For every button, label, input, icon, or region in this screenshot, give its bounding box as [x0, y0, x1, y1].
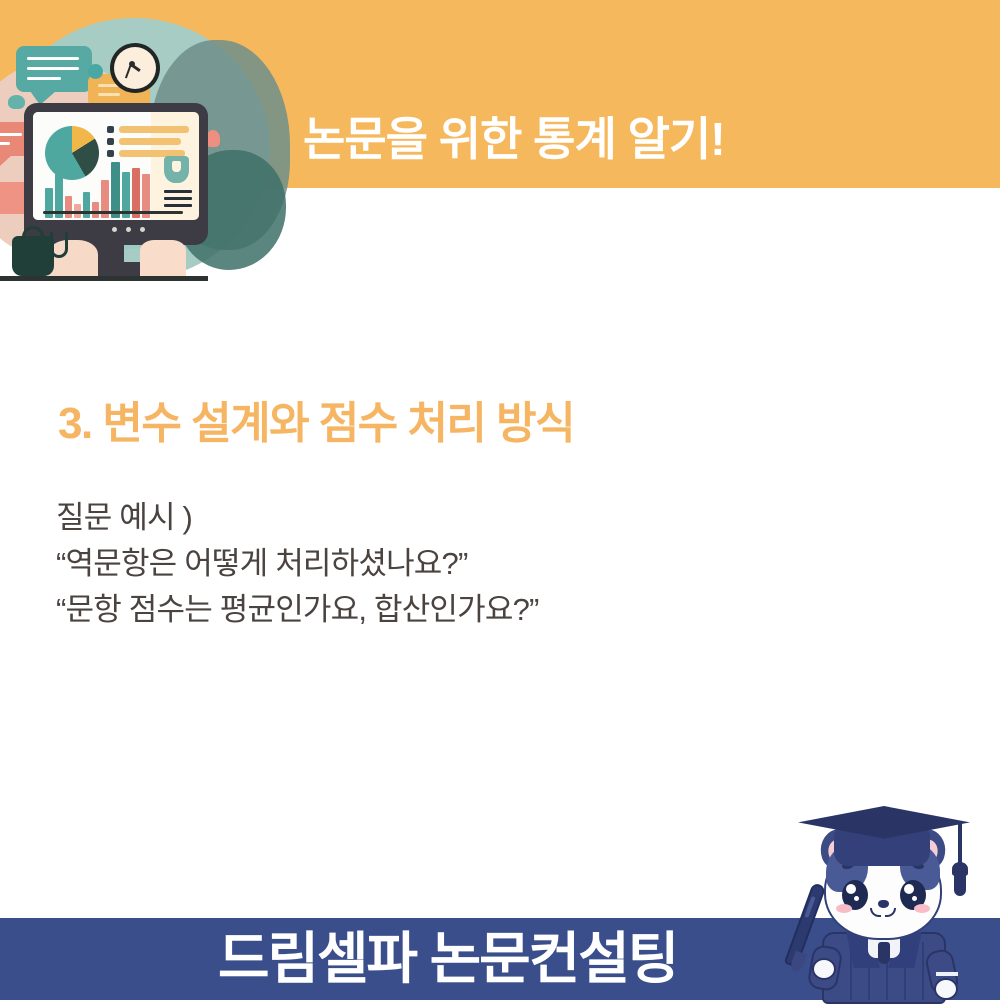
teal-dot-decoration: [88, 64, 103, 79]
shield-badge-icon: [164, 156, 189, 183]
header-title: 논문을 위한 통계 알기!: [303, 116, 725, 162]
cap-tassel-fringe: [954, 874, 966, 896]
body-text-block: 질문 예시 ) “역문항은 어떻게 처리하셨나요?” “문항 점수는 평균인가요…: [56, 495, 539, 633]
necktie: [878, 942, 890, 964]
cat-paw-left: [812, 958, 836, 980]
section-heading: 3. 변수 설계와 점수 처리 방식: [58, 398, 574, 451]
monitor-screen: [33, 112, 199, 220]
cat-blush-left: [836, 904, 852, 913]
gown-cuff-right: [936, 972, 958, 976]
body-line-2: “역문항은 어떻게 처리하셨나요?”: [56, 541, 539, 587]
salmon-person-decoration: [206, 130, 220, 147]
cat-blush-right: [914, 904, 930, 913]
ground-line: [0, 276, 208, 281]
monitor-indicator-dots: [112, 227, 145, 232]
peach-shape-2-decoration: [140, 240, 186, 276]
bag-icon: [12, 236, 54, 276]
body-line-3: “문항 점수는 평균인가요, 합산인가요?”: [56, 587, 539, 633]
header-illustration: [0, 0, 292, 292]
cat-paw-right: [934, 978, 958, 1000]
bar-chart-icon: [41, 156, 153, 218]
graduation-cap-board: [798, 806, 970, 840]
teal-heart-decoration: [8, 95, 25, 109]
graduate-cat-mascot: [790, 800, 990, 1000]
body-line-1: 질문 예시 ): [56, 495, 539, 541]
footer-brand-title: 드림셀파 논문컨설팅: [218, 925, 677, 992]
monitor-illustration: [24, 103, 208, 245]
cat-nose: [878, 900, 889, 908]
clock-icon: [110, 43, 160, 93]
speech-bubble-teal-icon: [16, 46, 92, 92]
